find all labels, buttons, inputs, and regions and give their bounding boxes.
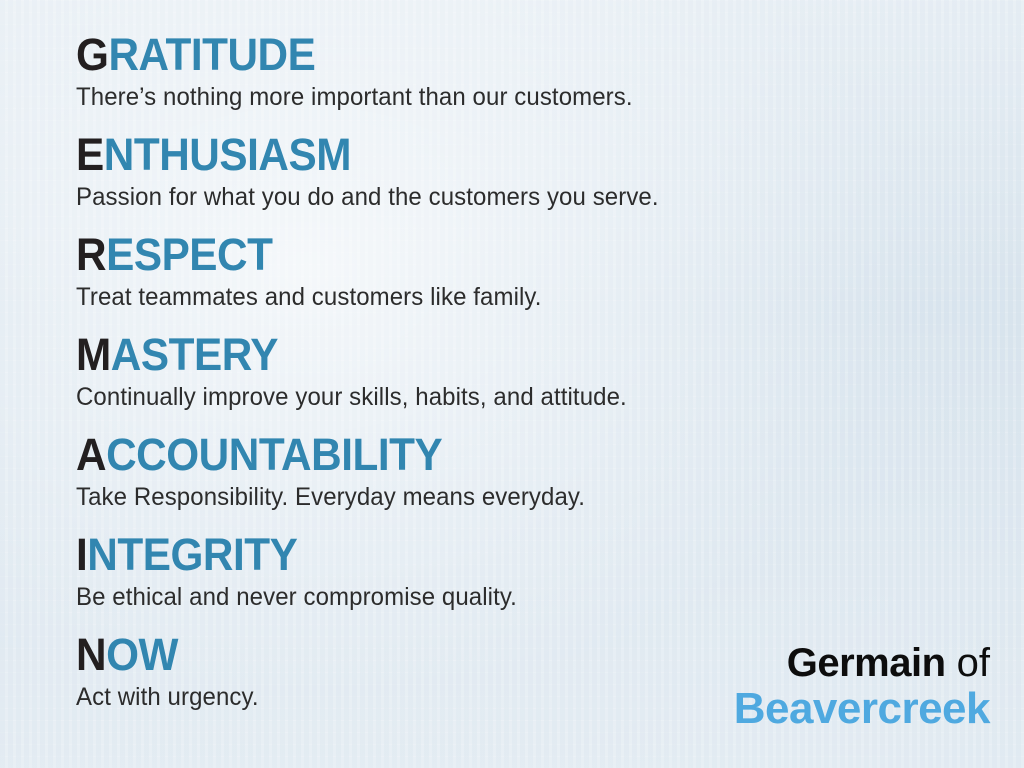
value-description-accountability: Take Responsibility. Everyday means ever… bbox=[76, 480, 940, 514]
core-values-list: GRATITUDE There’s nothing more important… bbox=[76, 30, 976, 730]
value-description-enthusiasm: Passion for what you do and the customer… bbox=[76, 180, 940, 214]
value-block-enthusiasm: ENTHUSIASM Passion for what you do and t… bbox=[76, 130, 976, 214]
value-block-mastery: MASTERY Continually improve your skills,… bbox=[76, 330, 976, 414]
value-heading-accountability: ACCOUNTABILITY bbox=[76, 430, 922, 480]
value-heading-remainder: CCOUNTABILITY bbox=[106, 429, 442, 480]
value-heading-integrity: INTEGRITY bbox=[76, 530, 922, 580]
brand-logo: Germain of Beavercreek bbox=[734, 641, 990, 732]
value-heading-remainder: OW bbox=[106, 629, 178, 680]
value-block-gratitude: GRATITUDE There’s nothing more important… bbox=[76, 30, 976, 114]
value-initial-letter: A bbox=[76, 429, 106, 480]
logo-line-primary: Germain of bbox=[734, 641, 990, 685]
value-initial-letter: E bbox=[76, 129, 104, 180]
value-description-integrity: Be ethical and never compromise quality. bbox=[76, 580, 940, 614]
logo-dealer-name: Germain bbox=[787, 641, 946, 685]
value-block-respect: RESPECT Treat teammates and customers li… bbox=[76, 230, 976, 314]
value-initial-letter: I bbox=[76, 529, 87, 580]
value-initial-letter: N bbox=[76, 629, 106, 680]
value-heading-mastery: MASTERY bbox=[76, 330, 922, 380]
value-block-accountability: ACCOUNTABILITY Take Responsibility. Ever… bbox=[76, 430, 976, 514]
value-heading-remainder: NTHUSIASM bbox=[104, 129, 351, 180]
value-initial-letter: G bbox=[76, 29, 108, 80]
value-description-mastery: Continually improve your skills, habits,… bbox=[76, 380, 940, 414]
value-initial-letter: R bbox=[76, 229, 106, 280]
value-heading-remainder: ESPECT bbox=[106, 229, 272, 280]
logo-location-name: Beavercreek bbox=[734, 685, 990, 732]
value-initial-letter: M bbox=[76, 329, 111, 380]
value-heading-remainder: ASTERY bbox=[111, 329, 278, 380]
value-heading-remainder: NTEGRITY bbox=[87, 529, 297, 580]
values-poster: GRATITUDE There’s nothing more important… bbox=[0, 0, 1024, 768]
value-heading-remainder: RATITUDE bbox=[108, 29, 315, 80]
value-description-gratitude: There’s nothing more important than our … bbox=[76, 80, 940, 114]
value-block-integrity: INTEGRITY Be ethical and never compromis… bbox=[76, 530, 976, 614]
value-heading-enthusiasm: ENTHUSIASM bbox=[76, 130, 922, 180]
value-heading-gratitude: GRATITUDE bbox=[76, 30, 922, 80]
value-description-respect: Treat teammates and customers like famil… bbox=[76, 280, 940, 314]
logo-connector-word: of bbox=[957, 641, 990, 685]
value-heading-respect: RESPECT bbox=[76, 230, 922, 280]
